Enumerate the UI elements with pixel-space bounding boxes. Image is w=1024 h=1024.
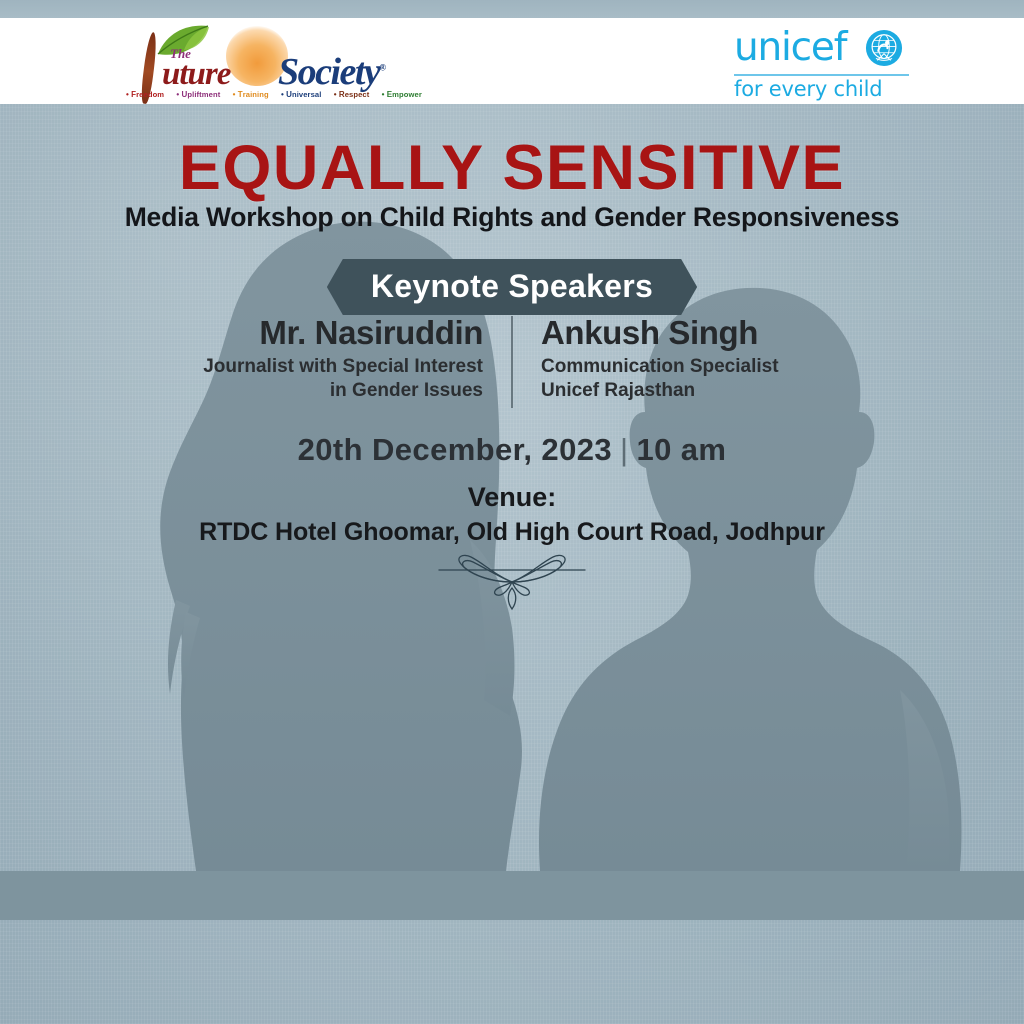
- tagline-word: • Respect: [334, 90, 375, 99]
- page-title: EQUALLY SENSITIVE: [0, 132, 1024, 204]
- speaker-role-line-2: in Gender Issues: [138, 379, 483, 403]
- speaker-card-1: Mr. Nasiruddin Journalist with Special I…: [138, 316, 511, 404]
- speaker-role-line-2: Unicef Rajasthan: [541, 379, 886, 403]
- tagline-word: • Universal: [281, 90, 327, 99]
- speaker-role-line-1: Communication Specialist: [541, 355, 886, 379]
- unicef-tagline: for every child: [734, 77, 882, 101]
- speaker-name: Mr. Nasiruddin: [138, 316, 483, 351]
- top-edge-strip: [0, 0, 1024, 18]
- speaker-name: Ankush Singh: [541, 316, 886, 351]
- tagline-word: • Upliftment: [176, 90, 225, 99]
- event-poster: The uture Society® • Freedom • Upliftmen…: [0, 0, 1024, 1024]
- speaker-role-line-1: Journalist with Special Interest: [138, 355, 483, 379]
- keynote-speakers-banner: Keynote Speakers: [327, 259, 697, 315]
- page-subtitle: Media Workshop on Child Rights and Gende…: [0, 202, 1024, 233]
- unicef-emblem-icon: [865, 29, 903, 67]
- event-datetime: 20th December, 2023|10 am: [0, 432, 1024, 468]
- header-band: The uture Society® • Freedom • Upliftmen…: [0, 18, 1024, 104]
- poster-body: EQUALLY SENSITIVE Media Workshop on Chil…: [0, 104, 1024, 1024]
- tagline-word: • Training: [233, 90, 274, 99]
- unicef-divider: [734, 74, 909, 76]
- datetime-separator: |: [612, 432, 636, 467]
- tagline-word: • Empower: [382, 90, 427, 99]
- flourish-ornament-icon: [417, 552, 607, 612]
- logo-future-text: uture: [162, 56, 230, 93]
- venue-address: RTDC Hotel Ghoomar, Old High Court Road,…: [0, 518, 1024, 547]
- speakers-divider: [511, 316, 513, 408]
- decorative-flourish: [0, 552, 1024, 612]
- unicef-logo: unicef for every child: [734, 28, 909, 100]
- event-time: 10 am: [636, 432, 726, 467]
- logo-society-text: Society®: [278, 50, 385, 94]
- keynote-ribbon-wrap: Keynote Speakers: [0, 259, 1024, 315]
- speaker-card-2: Ankush Singh Communication Specialist Un…: [513, 316, 886, 404]
- event-date: 20th December, 2023: [298, 432, 612, 467]
- speakers-section: Mr. Nasiruddin Journalist with Special I…: [0, 316, 1024, 408]
- tagline-word: • Freedom: [126, 90, 169, 99]
- the-future-society-logo: The uture Society® • Freedom • Upliftmen…: [118, 24, 368, 100]
- logo-tagline: • Freedom • Upliftment • Training • Univ…: [126, 90, 368, 99]
- unicef-wordmark: unicef: [734, 28, 846, 67]
- venue-label: Venue:: [0, 482, 1024, 513]
